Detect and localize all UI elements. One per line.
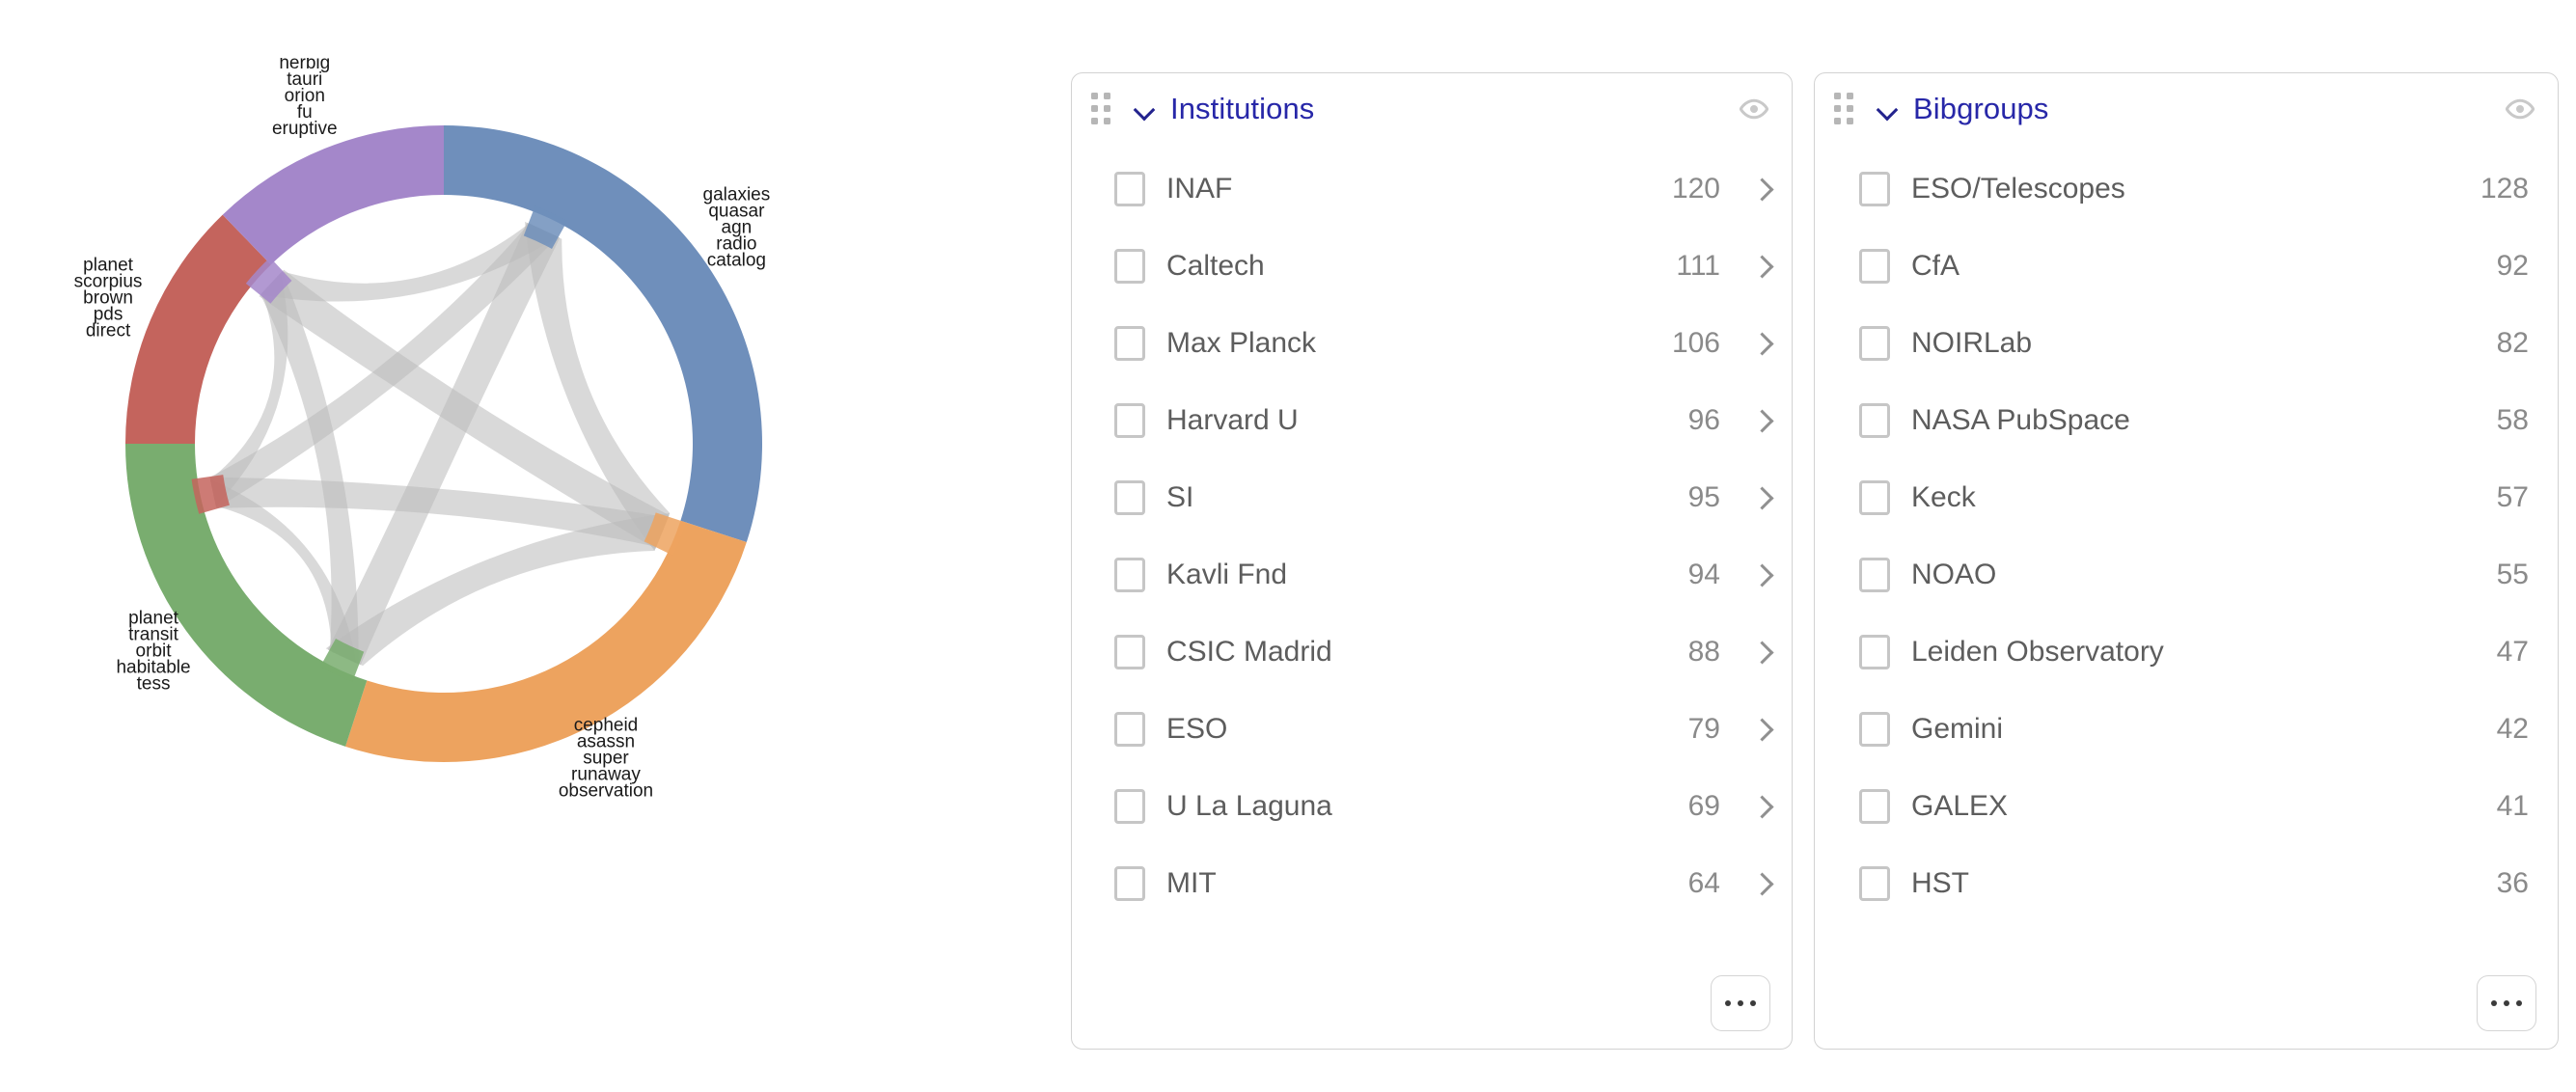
- panel-header: Bibgroups: [1815, 73, 2558, 145]
- facet-row[interactable]: CfA92: [1815, 228, 2558, 305]
- facet-row[interactable]: NASA PubSpace58: [1815, 382, 2558, 459]
- chevron-right-icon[interactable]: [1741, 876, 1770, 892]
- facet-label: CfA: [1911, 250, 2483, 283]
- facet-checkbox[interactable]: [1859, 789, 1890, 824]
- facet-checkbox[interactable]: [1114, 480, 1145, 515]
- facet-checkbox[interactable]: [1114, 403, 1145, 438]
- eye-icon[interactable]: [2504, 93, 2536, 125]
- facet-row[interactable]: U La Laguna69: [1072, 768, 1792, 845]
- eye-icon[interactable]: [1738, 93, 1770, 125]
- drag-handle-icon[interactable]: [1091, 93, 1112, 126]
- facet-label: U La Laguna: [1166, 790, 1675, 823]
- arc-label-line: catalog: [707, 251, 766, 271]
- arc-label-line: tess: [137, 674, 171, 695]
- chevron-down-icon[interactable]: [1873, 95, 1902, 123]
- chevron-right-icon[interactable]: [1741, 490, 1770, 506]
- facet-row[interactable]: Leiden Observatory47: [1815, 614, 2558, 691]
- facet-label: CSIC Madrid: [1166, 636, 1675, 669]
- facet-count: 106: [1672, 327, 1720, 360]
- arc-label-line: eruptive: [272, 119, 338, 139]
- arc-label-line: direct: [86, 320, 131, 341]
- facet-count: 95: [1688, 481, 1720, 514]
- facet-checkbox[interactable]: [1859, 558, 1890, 592]
- facet-row[interactable]: Keck57: [1815, 459, 2558, 536]
- facet-checkbox[interactable]: [1859, 403, 1890, 438]
- facet-label: Gemini: [1911, 713, 2483, 746]
- facet-row[interactable]: NOIRLab82: [1815, 305, 2558, 382]
- facet-panel-bibgroups: BibgroupsESO/Telescopes128CfA92NOIRLab82…: [1814, 72, 2559, 1050]
- facet-panel-institutions: InstitutionsINAF120Caltech111Max Planck1…: [1071, 72, 1793, 1050]
- facet-checkbox[interactable]: [1859, 326, 1890, 361]
- facet-count: 111: [1676, 250, 1720, 283]
- facet-list: INAF120Caltech111Max Planck106Harvard U9…: [1072, 145, 1792, 922]
- facet-label: Harvard U: [1166, 404, 1675, 437]
- arc-label-scorpius: planetscorpiusbrownpdsdirect: [74, 255, 143, 341]
- facet-checkbox[interactable]: [1114, 172, 1145, 206]
- chevron-right-icon[interactable]: [1741, 259, 1770, 275]
- facet-label: NOAO: [1911, 559, 2483, 591]
- facet-row[interactable]: Max Planck106: [1072, 305, 1792, 382]
- facet-label: ESO/Telescopes: [1911, 173, 2467, 205]
- chevron-right-icon[interactable]: [1741, 567, 1770, 584]
- facet-row[interactable]: Harvard U96: [1072, 382, 1792, 459]
- chevron-right-icon[interactable]: [1741, 722, 1770, 738]
- facet-checkbox[interactable]: [1114, 712, 1145, 747]
- chevron-right-icon[interactable]: [1741, 799, 1770, 815]
- facet-label: GALEX: [1911, 790, 2483, 823]
- chord-diagram: galaxiesquasaragnradiocatalogcepheidasas…: [58, 58, 830, 1032]
- facet-list: ESO/Telescopes128CfA92NOIRLab82NASA PubS…: [1815, 145, 2558, 922]
- panel-header: Institutions: [1072, 73, 1792, 145]
- chevron-right-icon[interactable]: [1741, 413, 1770, 429]
- facet-checkbox[interactable]: [1114, 789, 1145, 824]
- facet-label: Kavli Fnd: [1166, 559, 1675, 591]
- panel-title[interactable]: Bibgroups: [1913, 92, 2504, 126]
- chord-ribbons: [192, 206, 687, 682]
- facet-count: 41: [2497, 790, 2529, 823]
- donut-segment-herbig[interactable]: [223, 125, 444, 264]
- facet-checkbox[interactable]: [1114, 866, 1145, 901]
- facet-count: 88: [1688, 636, 1720, 669]
- facet-label: Leiden Observatory: [1911, 636, 2483, 669]
- facet-checkbox[interactable]: [1859, 480, 1890, 515]
- facet-row[interactable]: ESO/Telescopes128: [1815, 150, 2558, 228]
- facet-checkbox[interactable]: [1114, 249, 1145, 284]
- facet-count: 47: [2497, 636, 2529, 669]
- facet-row[interactable]: Gemini42: [1815, 691, 2558, 768]
- chevron-right-icon[interactable]: [1741, 644, 1770, 661]
- facet-label: NOIRLab: [1911, 327, 2483, 360]
- arc-label-line: observation: [559, 781, 653, 802]
- facet-row[interactable]: MIT64: [1072, 845, 1792, 922]
- facet-row[interactable]: GALEX41: [1815, 768, 2558, 845]
- facet-checkbox[interactable]: [1114, 326, 1145, 361]
- facet-checkbox[interactable]: [1859, 172, 1890, 206]
- facet-count: 42: [2497, 713, 2529, 746]
- facet-checkbox[interactable]: [1859, 866, 1890, 901]
- facet-label: NASA PubSpace: [1911, 404, 2483, 437]
- facet-count: 36: [2497, 867, 2529, 900]
- panel-footer: [2477, 975, 2536, 1031]
- facet-label: HST: [1911, 867, 2483, 900]
- facet-label: Caltech: [1166, 250, 1662, 283]
- facet-count: 82: [2497, 327, 2529, 360]
- facet-count: 94: [1688, 559, 1720, 591]
- more-options-button[interactable]: [2477, 975, 2536, 1031]
- facet-count: 55: [2497, 559, 2529, 591]
- more-options-button[interactable]: [1711, 975, 1770, 1031]
- facet-checkbox[interactable]: [1114, 635, 1145, 669]
- facet-label: INAF: [1166, 173, 1658, 205]
- facet-row[interactable]: SI95: [1072, 459, 1792, 536]
- facet-count: 57: [2497, 481, 2529, 514]
- arc-label-transit: planettransitorbithabitabletess: [116, 609, 190, 695]
- facet-count: 96: [1688, 404, 1720, 437]
- facet-count: 92: [2497, 250, 2529, 283]
- facet-count: 120: [1672, 173, 1720, 205]
- facet-label: ESO: [1166, 713, 1675, 746]
- facet-row[interactable]: NOAO55: [1815, 536, 2558, 614]
- chevron-right-icon[interactable]: [1741, 336, 1770, 352]
- arc-label-herbig: herbigtauriorionfueruptive: [272, 58, 338, 139]
- facet-label: MIT: [1166, 867, 1675, 900]
- facet-row[interactable]: Kavli Fnd94: [1072, 536, 1792, 614]
- arc-label-galaxies: galaxiesquasaragnradiocatalog: [703, 185, 771, 271]
- facet-checkbox[interactable]: [1859, 712, 1890, 747]
- panel-footer: [1711, 975, 1770, 1031]
- facet-row[interactable]: INAF120: [1072, 150, 1792, 228]
- facet-checkbox[interactable]: [1859, 635, 1890, 669]
- facet-count: 128: [2480, 173, 2529, 205]
- facet-row[interactable]: ESO79: [1072, 691, 1792, 768]
- facet-checkbox[interactable]: [1114, 558, 1145, 592]
- drag-handle-icon[interactable]: [1834, 93, 1855, 126]
- facet-count: 69: [1688, 790, 1720, 823]
- facet-count: 58: [2497, 404, 2529, 437]
- donut-segment-scorpius[interactable]: [125, 215, 271, 444]
- facet-checkbox[interactable]: [1859, 249, 1890, 284]
- facet-row[interactable]: CSIC Madrid88: [1072, 614, 1792, 691]
- facet-row[interactable]: HST36: [1815, 845, 2558, 922]
- chevron-down-icon[interactable]: [1130, 95, 1159, 123]
- panel-title[interactable]: Institutions: [1170, 92, 1738, 126]
- facet-label: Keck: [1911, 481, 2483, 514]
- facet-label: SI: [1166, 481, 1675, 514]
- chevron-right-icon[interactable]: [1741, 181, 1770, 198]
- facet-label: Max Planck: [1166, 327, 1658, 360]
- facet-row[interactable]: Caltech111: [1072, 228, 1792, 305]
- facet-count: 64: [1688, 867, 1720, 900]
- facet-count: 79: [1688, 713, 1720, 746]
- chord-diagram-svg: galaxiesquasaragnradiocatalogcepheidasas…: [58, 58, 830, 1032]
